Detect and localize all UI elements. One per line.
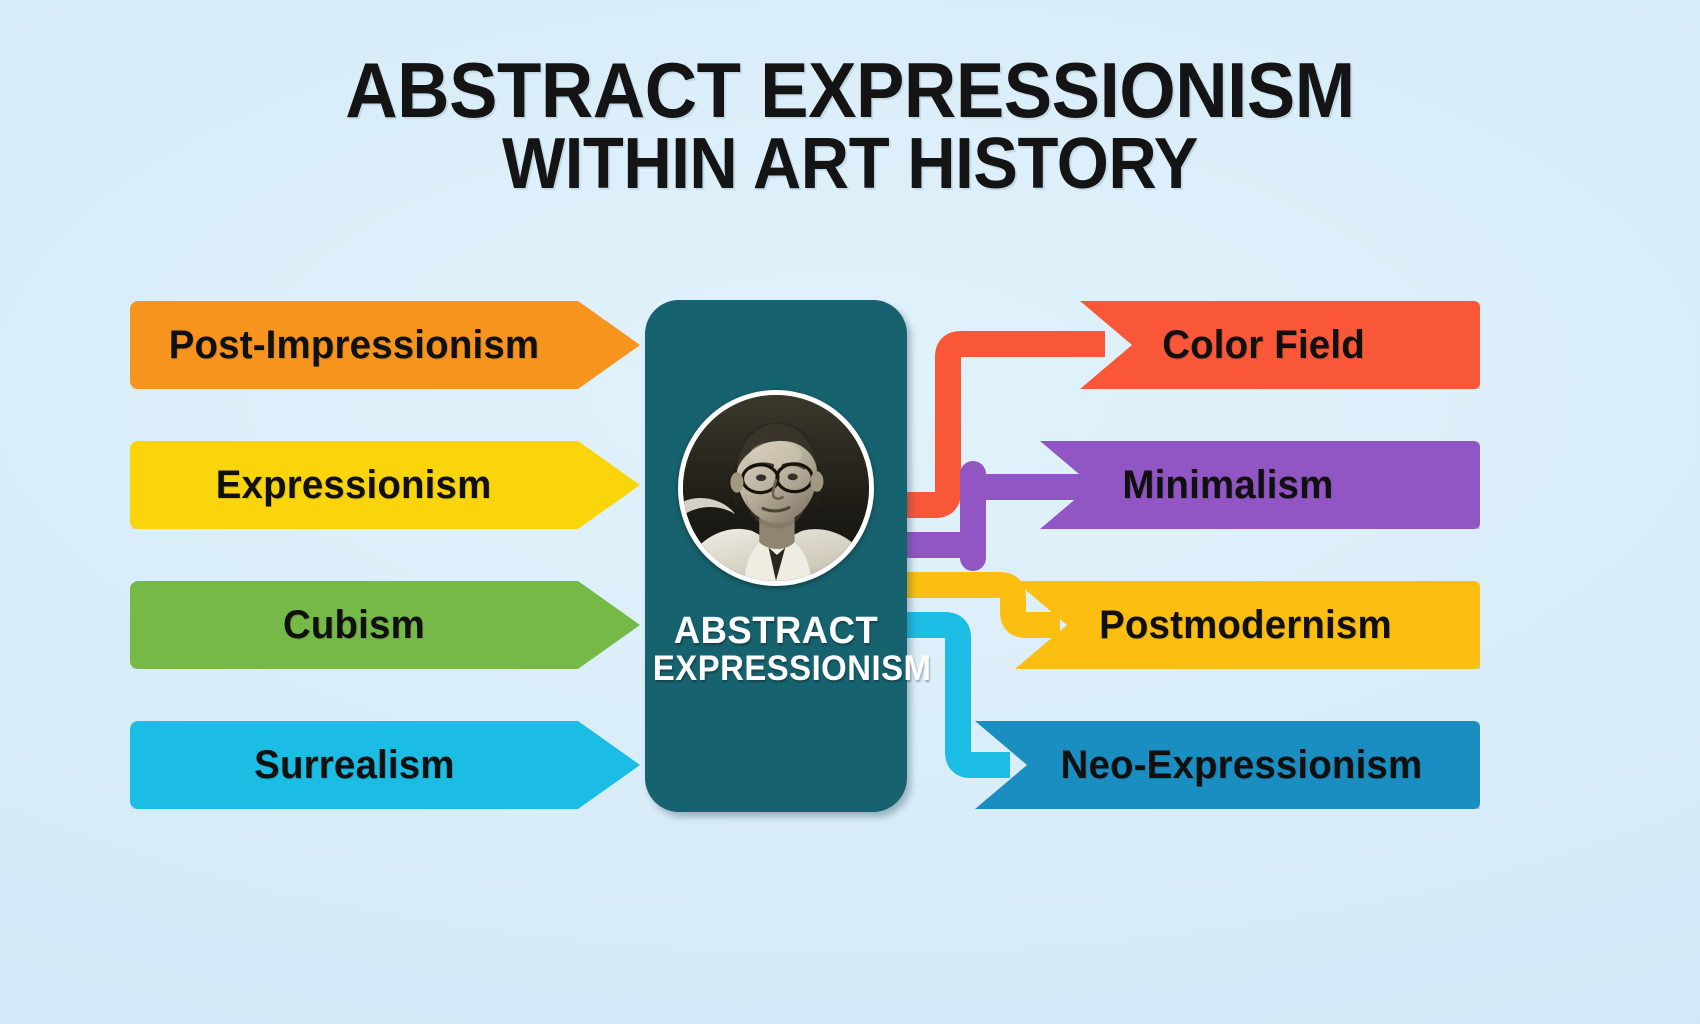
influence-arrow-cubism[interactable]: Cubism	[130, 581, 640, 669]
influence-label: Surrealism	[254, 743, 454, 788]
connector-neo-expressionism	[905, 625, 1010, 765]
central-title-line-2: EXPRESSIONISM	[653, 651, 899, 687]
portrait-illustration	[683, 395, 869, 581]
legacy-label: Minimalism	[1122, 463, 1333, 508]
central-title-line-1: ABSTRACT	[650, 612, 902, 651]
influence-label: Expressionism	[216, 463, 492, 508]
legacy-bar-minimalism[interactable]: Minimalism	[1040, 441, 1480, 529]
legacy-bar-neo-expressionism[interactable]: Neo-Expressionism	[975, 721, 1480, 809]
influence-arrow-expressionism[interactable]: Expressionism	[130, 441, 640, 529]
infographic-canvas: ABSTRACT EXPRESSIONISM WITHIN ART HISTOR…	[0, 0, 1700, 1024]
legacy-label: Color Field	[1162, 323, 1365, 368]
legacy-bar-postmodernism[interactable]: Postmodernism	[1015, 581, 1480, 669]
influence-label: Cubism	[283, 603, 425, 648]
legacy-bar-color-field[interactable]: Color Field	[1080, 301, 1480, 389]
central-node-title: ABSTRACT EXPRESSIONISM	[645, 612, 907, 687]
legacy-label: Postmodernism	[1099, 603, 1392, 648]
influence-arrow-surrealism[interactable]: Surrealism	[130, 721, 640, 809]
title-line-1: ABSTRACT EXPRESSIONISM	[60, 52, 1641, 129]
legacy-label: Neo-Expressionism	[1061, 743, 1423, 788]
page-title: ABSTRACT EXPRESSIONISM WITHIN ART HISTOR…	[0, 52, 1700, 200]
central-node-card[interactable]: ABSTRACT EXPRESSIONISM	[645, 300, 907, 812]
influence-label: Post-Impressionism	[169, 323, 540, 368]
influence-arrow-post-impressionism[interactable]: Post-Impressionism	[130, 301, 640, 389]
artist-portrait-avatar	[678, 390, 874, 586]
title-line-2: WITHIN ART HISTORY	[60, 129, 1641, 200]
